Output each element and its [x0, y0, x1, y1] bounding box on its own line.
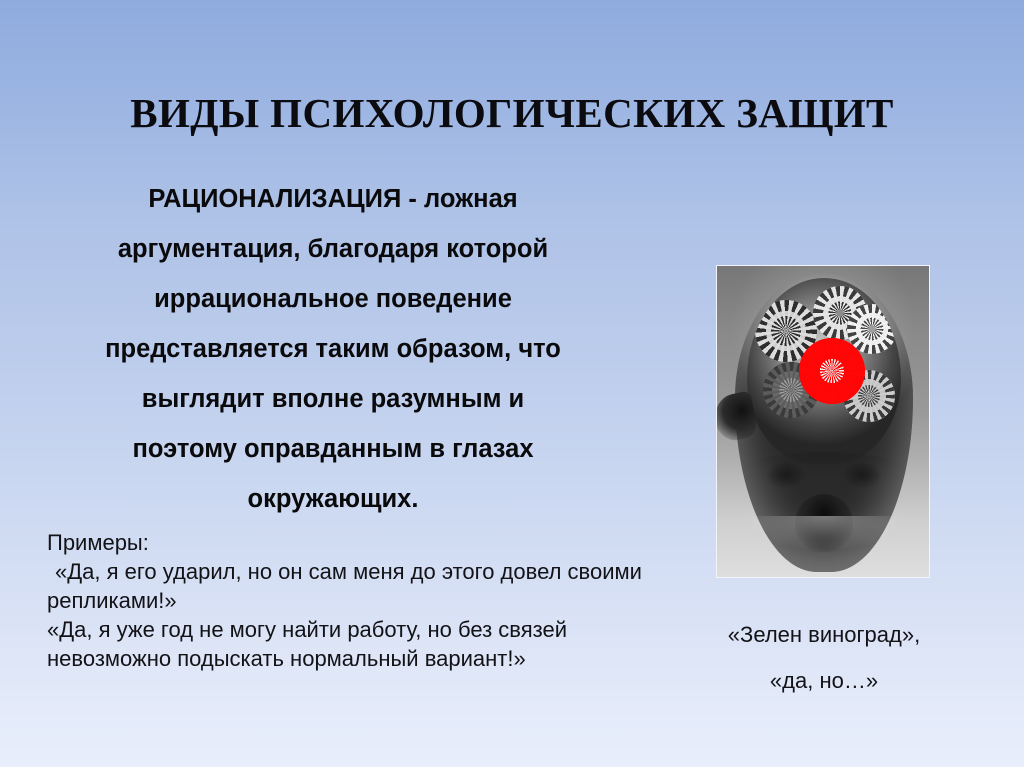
brow-shadow — [741, 452, 907, 490]
caption-line: «да, но…» — [666, 658, 982, 704]
cranium-gears-area — [747, 278, 901, 464]
eye-socket-right — [843, 462, 881, 488]
definition-paragraph: РАЦИОНАЛИЗАЦИЯ - ложная аргументация, бл… — [52, 174, 614, 524]
definition-line: представляется таким образом, что — [52, 324, 614, 374]
head-with-gears-image — [716, 265, 930, 578]
page-title: ВИДЫ ПСИХОЛОГИЧЕСКИХ ЗАЩИТ — [0, 89, 1024, 137]
slide-canvas: ВИДЫ ПСИХОЛОГИЧЕСКИХ ЗАЩИТ РАЦИОНАЛИЗАЦИ… — [0, 0, 1024, 767]
jaw-highlight — [745, 516, 903, 572]
definition-line: выглядит вполне разумным и — [52, 374, 614, 424]
examples-block: Примеры: «Да, я его ударил, но он сам ме… — [47, 528, 647, 673]
definition-line: РАЦИОНАЛИЗАЦИЯ - ложная — [52, 174, 614, 224]
example-quote: «Да, я уже год не могу найти работу, но … — [47, 615, 647, 673]
red-gear-icon — [799, 338, 865, 404]
example-quote: «Да, я его ударил, но он сам меня до это… — [47, 557, 647, 615]
definition-line: аргументация, благодаря которой — [52, 224, 614, 274]
picture-caption: «Зелен виноград», «да, но…» — [666, 612, 982, 704]
definition-line: поэтому оправданным в глазах — [52, 424, 614, 474]
eye-socket-left — [767, 462, 805, 488]
caption-line: «Зелен виноград», — [666, 612, 982, 658]
examples-label: Примеры: — [47, 528, 647, 557]
definition-line: иррациональное поведение — [52, 274, 614, 324]
definition-line: окружающих. — [52, 474, 614, 524]
